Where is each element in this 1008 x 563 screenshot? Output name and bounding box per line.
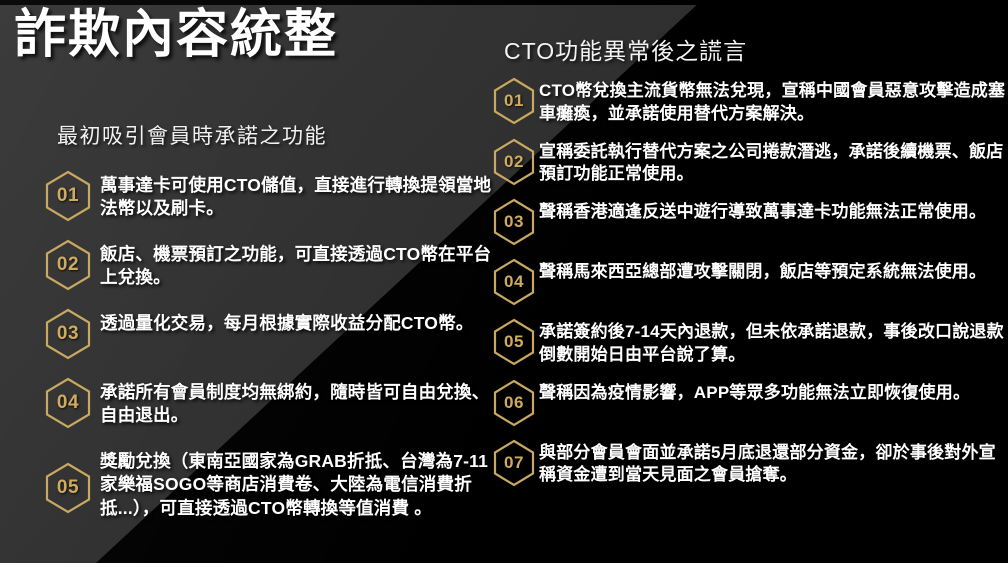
list-item: 04 聲稱馬來西亞總部遭攻擊關閉，飯店等預定系統無法使用。: [492, 258, 1008, 306]
list-item: 04 承諾所有會員制度均無綁約，隨時皆可自由兌換、自由退出。: [44, 377, 492, 429]
list-item: 01 CTO幣兌換主流貨幣無法兌現，宣稱中國會員惡意攻擊造成塞車癱瘓，並承諾使用…: [492, 77, 1008, 126]
list-item-text: 獎勵兌換（東南亞國家為GRAB折抵、台灣為7-11家樂福SOGO等商店消費卷、大…: [100, 446, 492, 520]
list-item-number: 05: [504, 332, 524, 352]
list-item-text: 透過量化交易，每月根據實際收益分配CTO幣。: [100, 308, 492, 335]
right-column: CTO功能異常後之謊言 01 CTO幣兌換主流貨幣無法兌現，宣稱中國會員惡意攻擊…: [492, 0, 1008, 563]
list-item-number: 04: [504, 272, 524, 292]
list-item-text: 飯店、機票預訂之功能，可直接透過CTO幣在平台上兌換。: [100, 239, 492, 290]
hexagon-badge-icon: 03: [44, 308, 92, 360]
list-item-text: 承諾所有會員制度均無綁約，隨時皆可自由兌換、自由退出。: [100, 377, 492, 428]
list-item-number: 02: [57, 254, 79, 276]
list-item-text: 承諾簽約後7-14天內退款，但未依承諾退款，事後改口說退款倒數開始日由平台說了算…: [539, 318, 1008, 367]
list-item-number: 03: [57, 323, 79, 345]
list-item: 03 聲稱香港適逢反送中遊行導致萬事達卡功能無法正常使用。: [492, 198, 1008, 246]
list-item-number: 05: [57, 477, 79, 499]
list-item-number: 02: [504, 152, 524, 172]
list-item: 05 獎勵兌換（東南亞國家為GRAB折抵、台灣為7-11家樂福SOGO等商店消費…: [44, 446, 492, 520]
hexagon-badge-icon: 06: [492, 379, 536, 427]
slide-root: 詐欺內容統整 最初吸引會員時承諾之功能 01 萬事達卡可使用CTO儲值，直接進行…: [0, 0, 1008, 563]
hexagon-badge-icon: 04: [492, 258, 536, 306]
list-item: 02 宣稱委託執行替代方案之公司捲款潛逃，承諾後續機票、飯店預訂功能正常使用。: [492, 138, 1008, 187]
list-item-text: 與部分會員會面並承諾5月底退還部分資金，卻於事後對外宣稱資金遭到當天見面之會員搶…: [539, 439, 1008, 488]
hexagon-badge-icon: 07: [492, 439, 536, 487]
hexagon-badge-icon: 04: [44, 377, 92, 429]
list-item-number: 06: [504, 393, 524, 413]
page-title: 詐欺內容統整: [14, 6, 338, 66]
list-item-text: 聲稱馬來西亞總部遭攻擊關閉，飯店等預定系統無法使用。: [539, 258, 1008, 284]
hexagon-badge-icon: 01: [492, 77, 536, 125]
hexagon-badge-icon: 02: [44, 239, 92, 291]
right-column-list: 01 CTO幣兌換主流貨幣無法兌現，宣稱中國會員惡意攻擊造成塞車癱瘓，並承諾使用…: [492, 77, 1008, 499]
hexagon-badge-icon: 05: [44, 462, 92, 514]
list-item: 07 與部分會員會面並承諾5月底退還部分資金，卻於事後對外宣稱資金遭到當天見面之…: [492, 439, 1008, 488]
list-item-text: 萬事達卡可使用CTO儲值，直接進行轉換提領當地法幣以及刷卡。: [100, 170, 492, 221]
hexagon-badge-icon: 02: [492, 138, 536, 186]
right-column-heading: CTO功能異常後之謊言: [504, 32, 747, 66]
list-item: 03 透過量化交易，每月根據實際收益分配CTO幣。: [44, 308, 492, 360]
list-item: 01 萬事達卡可使用CTO儲值，直接進行轉換提領當地法幣以及刷卡。: [44, 170, 492, 222]
list-item: 02 飯店、機票預訂之功能，可直接透過CTO幣在平台上兌換。: [44, 239, 492, 291]
list-item-number: 07: [504, 453, 524, 473]
list-item-text: 聲稱因為疫情影響，APP等眾多功能無法立即恢復使用。: [539, 379, 1008, 405]
list-item-number: 04: [57, 392, 79, 414]
left-column-list: 01 萬事達卡可使用CTO儲值，直接進行轉換提領當地法幣以及刷卡。 02 飯店、…: [44, 170, 492, 537]
list-item-text: CTO幣兌換主流貨幣無法兌現，宣稱中國會員惡意攻擊造成塞車癱瘓，並承諾使用替代方…: [539, 77, 1008, 126]
left-column: 詐欺內容統整 最初吸引會員時承諾之功能 01 萬事達卡可使用CTO儲值，直接進行…: [0, 0, 492, 563]
hexagon-badge-icon: 01: [44, 170, 92, 222]
list-item: 05 承諾簽約後7-14天內退款，但未依承諾退款，事後改口說退款倒數開始日由平台…: [492, 318, 1008, 367]
list-item-number: 01: [57, 185, 79, 207]
list-item-number: 03: [504, 212, 524, 232]
left-column-heading: 最初吸引會員時承諾之功能: [57, 120, 327, 150]
slide-content: 詐欺內容統整 最初吸引會員時承諾之功能 01 萬事達卡可使用CTO儲值，直接進行…: [0, 0, 1008, 563]
list-item: 06 聲稱因為疫情影響，APP等眾多功能無法立即恢復使用。: [492, 379, 1008, 427]
list-item-text: 聲稱香港適逢反送中遊行導致萬事達卡功能無法正常使用。: [539, 198, 1008, 224]
list-item-text: 宣稱委託執行替代方案之公司捲款潛逃，承諾後續機票、飯店預訂功能正常使用。: [539, 138, 1008, 187]
hexagon-badge-icon: 03: [492, 198, 536, 246]
list-item-number: 01: [504, 91, 524, 111]
hexagon-badge-icon: 05: [492, 318, 536, 366]
